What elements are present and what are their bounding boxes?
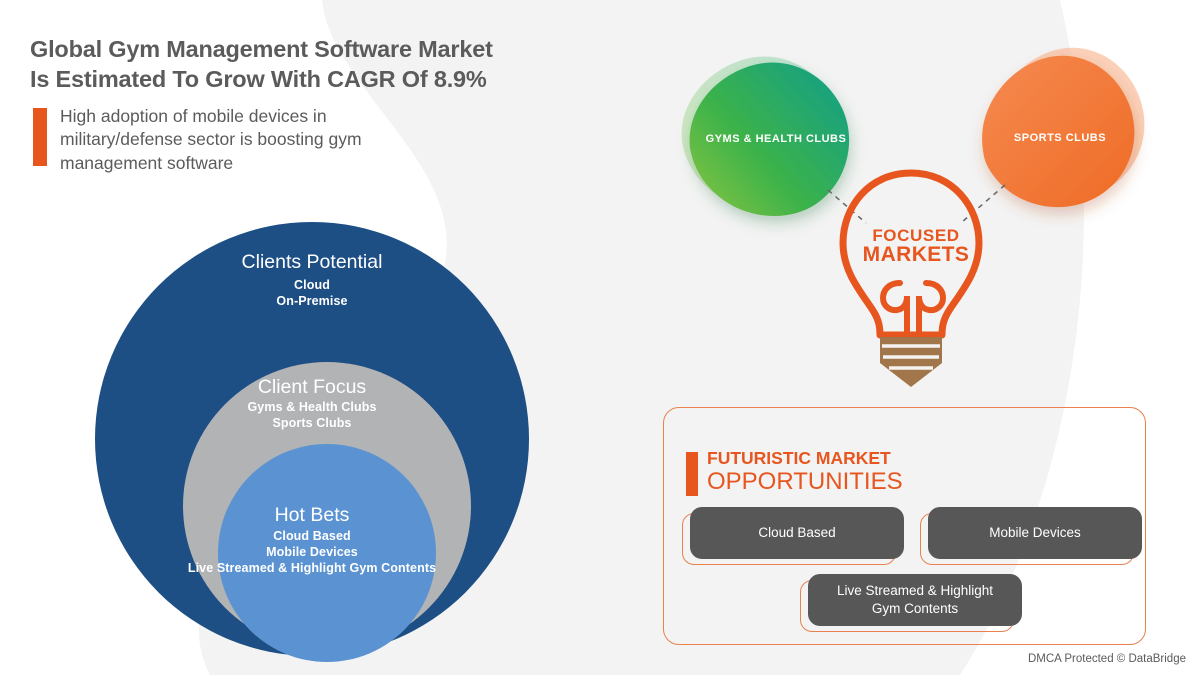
hot-bets-item-2: Live Streamed & Highlight Gym Contents	[0, 561, 637, 577]
infographic-canvas: Global Gym Management Software Market Is…	[0, 0, 1200, 675]
opportunities-title-line-2: OPPORTUNITIES	[707, 469, 903, 494]
subtitle-text: High adoption of mobile devices in milit…	[60, 105, 400, 175]
gyms-health-clubs-label: GYMS & HEALTH CLUBS	[676, 133, 876, 145]
opportunities-accent-bar-icon	[686, 452, 698, 496]
chip-live-streamed[interactable]: Live Streamed & Highlight Gym Contents	[808, 574, 1022, 626]
concentric-circles-diagram: Clients Potential Cloud On-Premise Clien…	[95, 222, 529, 656]
page-title: Global Gym Management Software Market Is…	[30, 34, 610, 94]
client-focus-title: Client Focus	[95, 377, 529, 398]
footer-copyright: DMCA Protected © DataBridge	[1028, 653, 1186, 665]
clients-potential-item-0: Cloud	[95, 278, 529, 294]
label-client-focus: Client Focus Gyms & Health Clubs Sports …	[95, 377, 529, 432]
hot-bets-item-1: Mobile Devices	[0, 545, 637, 561]
focused-markets-line-1: FOCUSED	[826, 227, 1006, 244]
title-line-1: Global Gym Management Software Market	[30, 36, 493, 62]
lightbulb-icon	[826, 165, 1006, 405]
chip-mobile-devices[interactable]: Mobile Devices	[928, 507, 1142, 559]
client-focus-item-0: Gyms & Health Clubs	[95, 400, 529, 416]
sports-clubs-label: SPORTS CLUBS	[965, 132, 1155, 144]
opportunities-title-line-1: FUTURISTIC MARKET	[707, 450, 903, 468]
client-focus-item-1: Sports Clubs	[95, 416, 529, 432]
subtitle-block: High adoption of mobile devices in milit…	[33, 105, 400, 175]
title-line-2: Is Estimated To Grow With CAGR Of 8.9%	[30, 66, 487, 92]
label-clients-potential: Clients Potential Cloud On-Premise	[95, 252, 529, 310]
hot-bets-item-0: Cloud Based	[0, 529, 637, 545]
clients-potential-title: Clients Potential	[95, 252, 529, 273]
clients-potential-item-1: On-Premise	[95, 294, 529, 310]
hot-bets-title: Hot Bets	[0, 505, 637, 526]
focused-markets-bulb: FOCUSED MARKETS	[826, 165, 1006, 405]
opportunities-heading: FUTURISTIC MARKET OPPORTUNITIES	[686, 450, 903, 496]
chip-cloud-based[interactable]: Cloud Based	[690, 507, 904, 559]
accent-bar-icon	[33, 108, 47, 166]
focused-markets-label: FOCUSED MARKETS	[826, 227, 1006, 265]
focused-markets-line-2: MARKETS	[826, 244, 1006, 265]
label-hot-bets: Hot Bets Cloud Based Mobile Devices Live…	[0, 505, 637, 576]
